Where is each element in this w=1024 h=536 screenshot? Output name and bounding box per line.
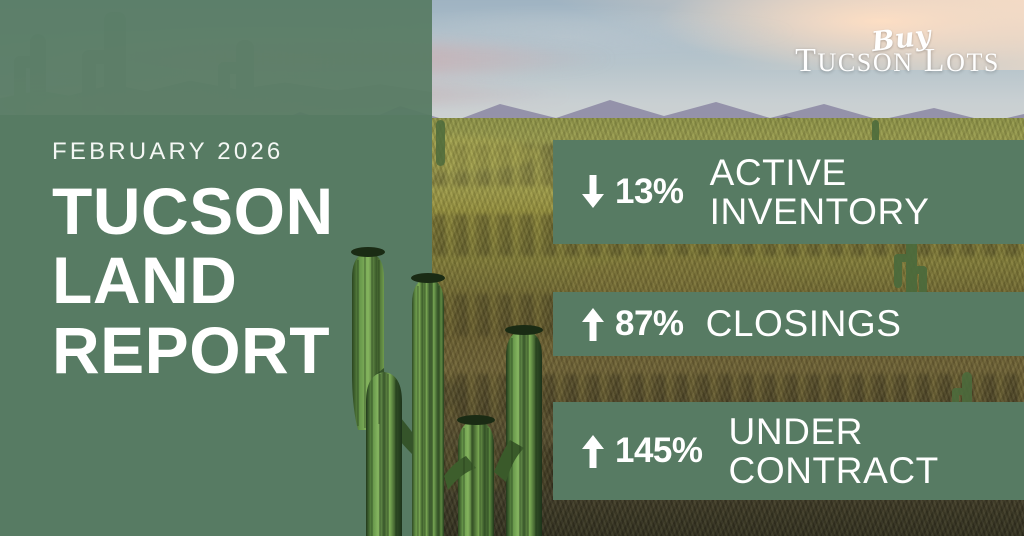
green-overlay-top: [0, 0, 432, 115]
logo-lots-rest: OTS: [946, 48, 1000, 77]
stat-label: UNDER CONTRACT: [729, 412, 939, 490]
stat-label: ACTIVE INVENTORY: [710, 153, 930, 231]
up-arrow-icon: [581, 307, 605, 341]
tucson-land-report-graphic: FEBRUARY 2026 TUCSON LAND REPORT: [0, 0, 1024, 536]
page-title-line-1: TUCSON: [52, 180, 412, 243]
up-arrow-icon: [581, 434, 605, 468]
stat-metric: 145%: [581, 431, 703, 471]
stat-value: 13%: [615, 172, 684, 212]
stat-metric: 13%: [581, 172, 684, 212]
distant-saguaro: [436, 120, 445, 166]
down-arrow-icon: [581, 175, 605, 209]
report-date-eyebrow: FEBRUARY 2026: [52, 140, 412, 164]
brand-logo[interactable]: Buy TUCSON LOTS: [795, 26, 1000, 78]
stat-card-closings: 87% CLOSINGS: [553, 292, 1024, 356]
stat-label-line-1: ACTIVE: [710, 153, 930, 192]
stat-metric: 87%: [581, 304, 684, 344]
stat-label: CLOSINGS: [706, 304, 902, 343]
stat-value: 145%: [615, 431, 703, 471]
stat-value: 87%: [615, 304, 684, 344]
stat-label-line-2: CONTRACT: [729, 451, 939, 490]
stat-label-line-2: INVENTORY: [710, 192, 930, 231]
stat-card-under-contract: 145% UNDER CONTRACT: [553, 402, 1024, 500]
saguaro-cactus-illustration: [330, 240, 560, 536]
stat-label-line-1: UNDER: [729, 412, 939, 451]
stat-label-line-1: CLOSINGS: [706, 304, 902, 343]
stat-card-active-inventory: 13% ACTIVE INVENTORY: [553, 140, 1024, 244]
